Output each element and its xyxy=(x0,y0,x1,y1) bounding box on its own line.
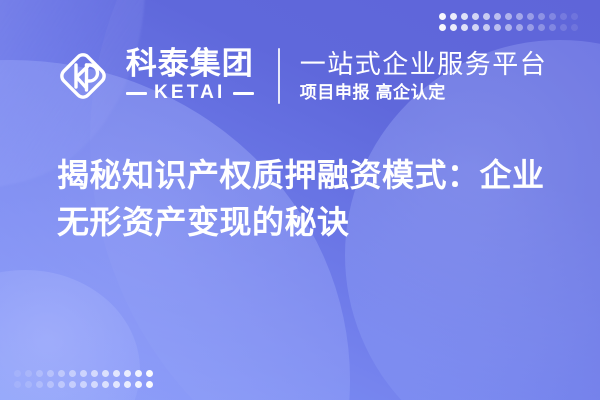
tagline-block: 一站式企业服务平台 项目申报 高企认定 xyxy=(300,51,548,101)
decorative-dot xyxy=(505,24,512,31)
decorative-dot xyxy=(47,381,54,388)
decorative-dot xyxy=(146,370,153,377)
decorative-dot xyxy=(14,381,21,388)
decorative-dot xyxy=(439,13,446,20)
decorative-dot xyxy=(483,24,490,31)
title-block: 揭秘知识产权质押融资模式：企业无形资产变现的秘诀 xyxy=(57,152,555,247)
decorative-dot xyxy=(538,13,545,20)
brand-name-en-row: KETAI xyxy=(126,82,254,104)
decorative-dot xyxy=(80,381,87,388)
dot-grid-top-right xyxy=(439,13,578,31)
promo-banner: 科泰集团 KETAI 一站式企业服务平台 项目申报 高企认定 揭秘知识产权质押融… xyxy=(0,0,600,400)
brand-rule-right xyxy=(233,92,254,95)
decorative-dot xyxy=(135,370,142,377)
decorative-dot xyxy=(124,370,131,377)
decorative-dot xyxy=(538,24,545,31)
decorative-dot xyxy=(549,24,556,31)
decorative-dot xyxy=(560,24,567,31)
decorative-dot xyxy=(516,13,523,20)
brand-name-cn: 科泰集团 xyxy=(126,48,254,80)
decorative-dot xyxy=(36,370,43,377)
decorative-dot xyxy=(450,13,457,20)
decorative-dot xyxy=(135,381,142,388)
decorative-dot xyxy=(102,370,109,377)
dot-grid-bottom-left xyxy=(14,370,153,388)
decorative-dot xyxy=(461,24,468,31)
decorative-dot xyxy=(483,13,490,20)
decorative-dot xyxy=(25,381,32,388)
decorative-dot xyxy=(58,381,65,388)
brand-lockup: 科泰集团 KETAI xyxy=(53,46,254,106)
decorative-dot xyxy=(494,24,501,31)
decorative-dot xyxy=(69,381,76,388)
decorative-dot xyxy=(113,370,120,377)
decorative-dot xyxy=(472,13,479,20)
decorative-dot xyxy=(146,381,153,388)
decorative-dot xyxy=(124,381,131,388)
decorative-dot xyxy=(58,370,65,377)
header-divider xyxy=(278,48,280,104)
decorative-dot xyxy=(14,370,21,377)
tagline-sub: 项目申报 高企认定 xyxy=(300,84,548,101)
decorative-dot xyxy=(571,24,578,31)
decorative-dot xyxy=(494,13,501,20)
brand-rule-left xyxy=(126,92,147,95)
decorative-dot xyxy=(527,24,534,31)
decorative-dot xyxy=(91,370,98,377)
decorative-dot xyxy=(516,24,523,31)
decorative-dot xyxy=(47,370,54,377)
decorative-dot xyxy=(439,24,446,31)
tagline-main: 一站式企业服务平台 xyxy=(300,51,548,77)
brand-name-en: KETAI xyxy=(154,82,226,104)
decorative-dot xyxy=(560,13,567,20)
decorative-dot xyxy=(461,13,468,20)
decorative-dot xyxy=(450,24,457,31)
decorative-dot xyxy=(102,381,109,388)
decorative-dot xyxy=(527,13,534,20)
decorative-dot xyxy=(36,381,43,388)
decorative-dot xyxy=(505,13,512,20)
decorative-dot xyxy=(549,13,556,20)
decorative-dot xyxy=(571,13,578,20)
decorative-dot xyxy=(80,370,87,377)
ketai-diamond-kd-monogram-icon xyxy=(53,46,113,106)
decorative-dot xyxy=(25,370,32,377)
page-title: 揭秘知识产权质押融资模式：企业无形资产变现的秘诀 xyxy=(57,152,555,247)
brand-wordmark: 科泰集团 KETAI xyxy=(126,48,254,105)
decorative-dot xyxy=(69,370,76,377)
decorative-dot xyxy=(472,24,479,31)
banner-header: 科泰集团 KETAI 一站式企业服务平台 项目申报 高企认定 xyxy=(0,40,600,112)
decorative-dot xyxy=(91,381,98,388)
decorative-dot xyxy=(113,381,120,388)
